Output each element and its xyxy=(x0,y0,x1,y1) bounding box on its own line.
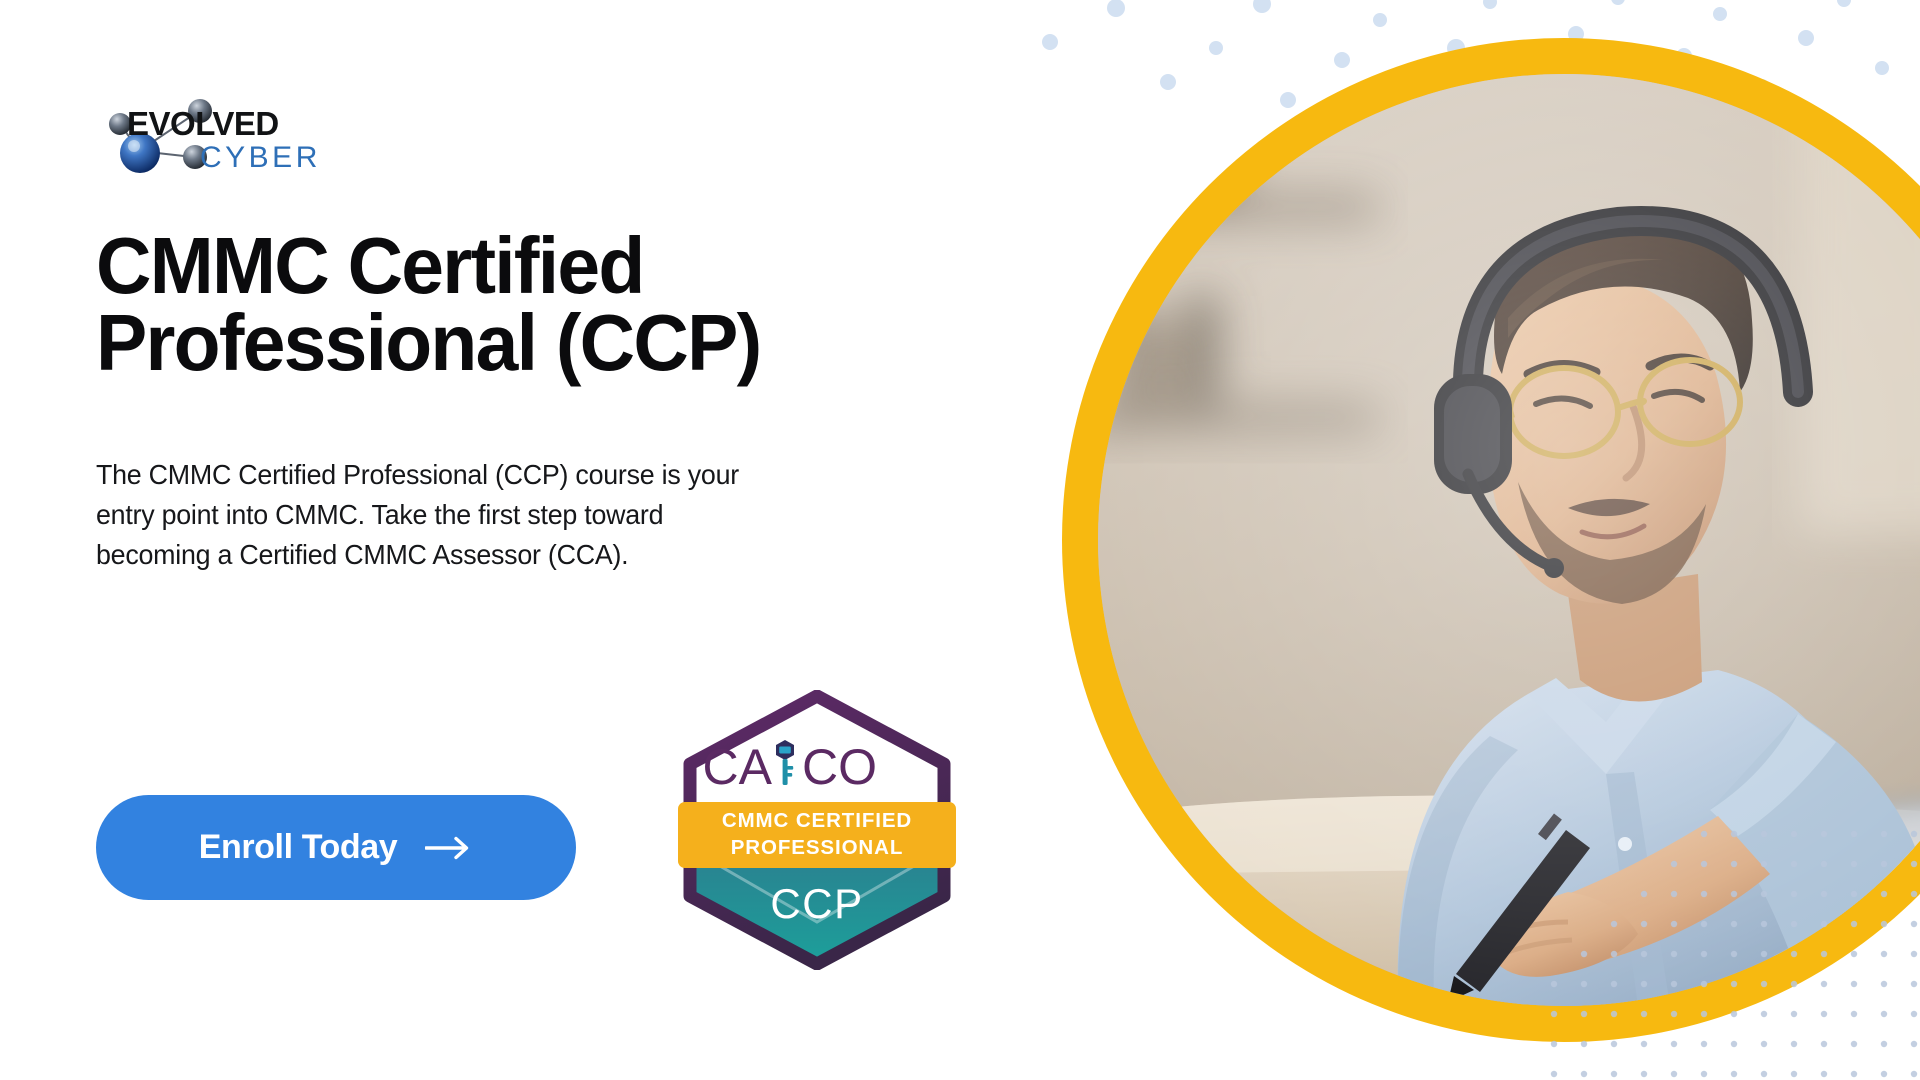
decorative-dot xyxy=(1581,1071,1587,1077)
caico-letters-left: CA xyxy=(703,739,773,795)
enroll-today-button[interactable]: Enroll Today xyxy=(96,795,576,900)
enroll-today-label: Enroll Today xyxy=(199,828,398,867)
decorative-dot xyxy=(1851,1071,1857,1077)
headline-line-1: CMMC Certified xyxy=(96,228,893,305)
decorative-dot xyxy=(1701,1071,1707,1077)
decorative-dot xyxy=(1483,0,1497,9)
badge-band: CMMC CERTIFIED PROFESSIONAL xyxy=(678,802,956,868)
decorative-dot xyxy=(1042,34,1058,50)
decorative-dot xyxy=(1551,1071,1557,1077)
student-photo xyxy=(1098,74,1920,1006)
decorative-dot xyxy=(1107,0,1125,17)
hero-content-column: EVOLVED CYBER CMMC Certified Professiona… xyxy=(0,0,980,1080)
decorative-dot xyxy=(1821,1071,1827,1077)
evolved-cyber-logo[interactable]: EVOLVED CYBER xyxy=(95,95,335,175)
description-line-3: becoming a Certified CMMC Assessor (CCA)… xyxy=(96,535,954,575)
decorative-dot xyxy=(1731,1071,1737,1077)
decorative-dot xyxy=(1881,1071,1887,1077)
hero-description: The CMMC Certified Professional (CCP) co… xyxy=(96,455,954,575)
decorative-dot xyxy=(1837,0,1851,7)
decorative-dot xyxy=(1373,13,1387,27)
decorative-dot xyxy=(1671,1071,1677,1077)
decorative-dot xyxy=(1641,1071,1647,1077)
arrow-right-icon xyxy=(425,835,473,861)
caico-letters-right: CO xyxy=(802,739,877,795)
decorative-dot xyxy=(1611,1071,1617,1077)
decorative-dot xyxy=(1253,0,1271,13)
page-title: CMMC Certified Professional (CCP) xyxy=(96,228,893,382)
decorative-dot xyxy=(1791,1071,1797,1077)
badge-band-line-1: CMMC CERTIFIED xyxy=(722,809,912,832)
caico-ccp-badge: CA CO CMMC CERTIFIED PROFESSIONAL xyxy=(672,690,962,970)
logo-word-cyber: CYBER xyxy=(200,141,321,174)
badge-band-line-2: PROFESSIONAL xyxy=(731,836,904,859)
headline-line-2: Professional (CCP) xyxy=(96,305,893,382)
hero-image xyxy=(1062,38,1920,1042)
decorative-dot xyxy=(1713,7,1727,21)
hero-banner: EVOLVED CYBER CMMC Certified Professiona… xyxy=(0,0,1920,1080)
decorative-dot xyxy=(1611,0,1625,5)
decorative-dot xyxy=(1911,1071,1917,1077)
photo-frame xyxy=(1098,74,1920,1006)
decorative-dot xyxy=(1761,1071,1767,1077)
logo-word-evolved: EVOLVED xyxy=(127,105,279,142)
badge-credential-abbr: CCP xyxy=(770,880,863,927)
description-line-2: entry point into CMMC. Take the first st… xyxy=(96,495,954,535)
description-line-1: The CMMC Certified Professional (CCP) co… xyxy=(96,455,954,495)
